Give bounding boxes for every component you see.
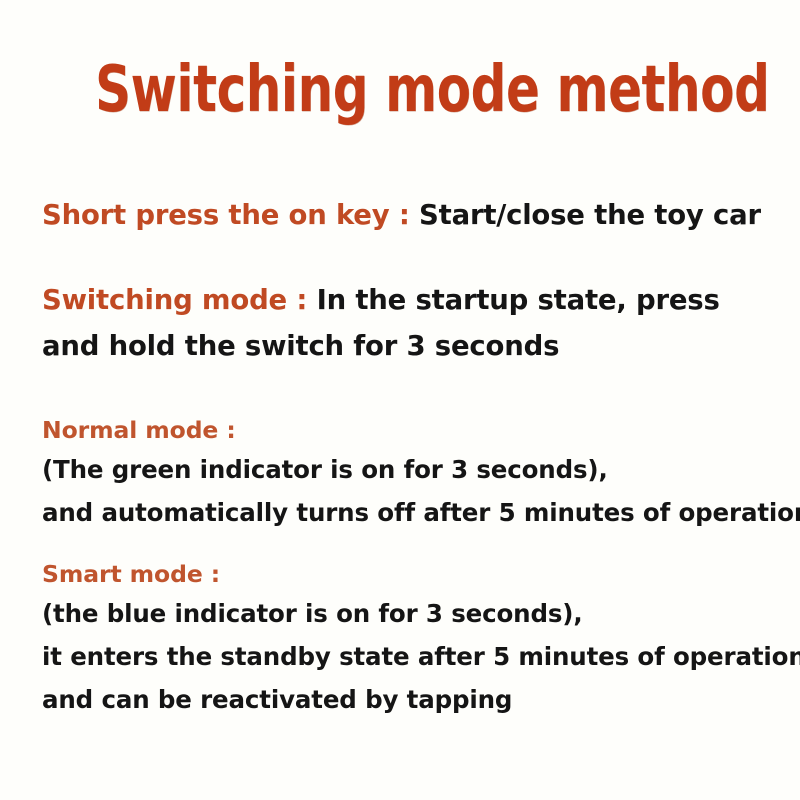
section-normal-mode: Normal mode : (The green indicator is on…	[42, 412, 766, 534]
normal-mode-line-2: and automatically turns off after 5 minu…	[42, 491, 766, 534]
short-press-value: Start/close the toy car	[419, 199, 761, 231]
smart-mode-line-3: and can be reactivated by tapping	[42, 678, 766, 721]
switching-mode-line: Switching mode : In the startup state, p…	[42, 277, 766, 369]
smart-mode-line-2: it enters the standby state after 5 minu…	[42, 635, 766, 678]
page-title: Switching mode method	[95, 58, 769, 122]
short-press-line: Short press the on key : Start/close the…	[42, 192, 766, 238]
normal-mode-line-1: (The green indicator is on for 3 seconds…	[42, 448, 766, 491]
section-short-press: Short press the on key : Start/close the…	[42, 192, 766, 238]
section-smart-mode: Smart mode : (the blue indicator is on f…	[42, 556, 766, 721]
smart-mode-line-1: (the blue indicator is on for 3 seconds)…	[42, 592, 766, 635]
smart-mode-heading: Smart mode :	[42, 556, 766, 592]
switching-mode-label: Switching mode :	[42, 284, 317, 316]
instruction-page: Switching mode method Short press the on…	[0, 0, 800, 800]
normal-mode-heading: Normal mode :	[42, 412, 766, 448]
page-title-container: Switching mode method	[0, 58, 800, 122]
short-press-label: Short press the on key :	[42, 199, 419, 231]
section-switching-mode: Switching mode : In the startup state, p…	[42, 277, 766, 369]
